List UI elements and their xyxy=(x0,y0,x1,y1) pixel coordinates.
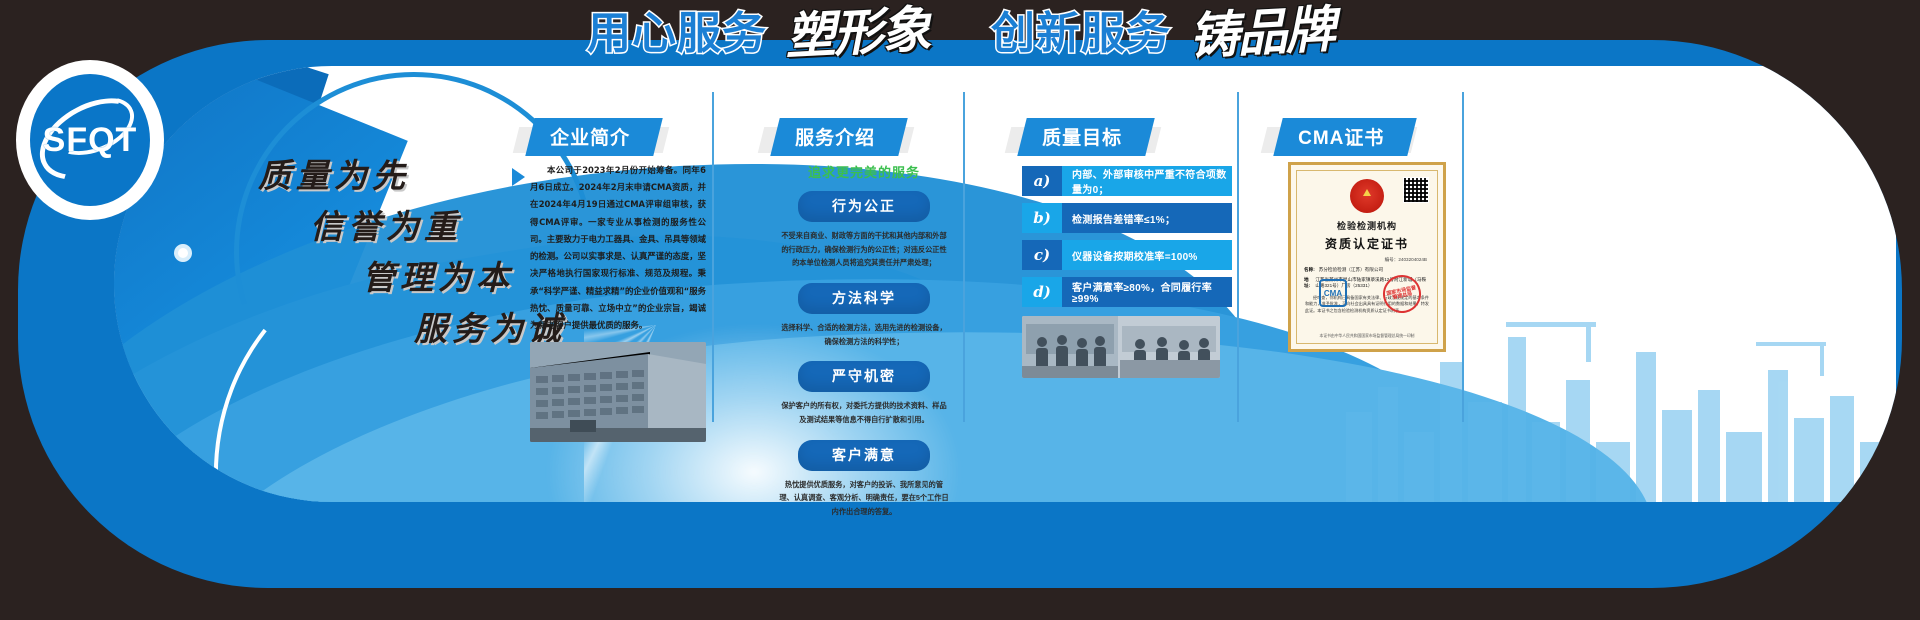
header-title-part2-brush: 铸品牌 xyxy=(1187,0,1335,69)
company-intro-text: 本公司于2023年2月份开始筹备。同年6月6日成立。2024年2月末申请CMA资… xyxy=(530,162,706,334)
culture-wall-stage: 用心服务 塑形象 创新服务 铸品牌 xyxy=(0,0,1920,620)
service-item-title-1[interactable]: 方法科学 xyxy=(798,283,930,314)
cma-header: CMA证书 xyxy=(1278,118,1478,152)
cma-heading-tag: CMA证书 xyxy=(1273,118,1417,156)
goal-value-1: 检测报告差错率≤1%； xyxy=(1062,203,1232,233)
service-intro-heading-text: 服务介绍 xyxy=(795,123,875,150)
certificate-address-label: 地址: xyxy=(1304,277,1311,289)
company-building-photo xyxy=(530,342,706,442)
goal-row: c) 仪器设备按期校准率=100% xyxy=(1022,240,1232,270)
service-item-title-0[interactable]: 行为公正 xyxy=(798,191,930,222)
column-separator-3 xyxy=(1237,92,1239,422)
certificate-name-value: 苏分检验检测（江苏）有限公司 xyxy=(1319,267,1383,273)
service-item-desc-0: 不受来自商业、财政等方面的干扰和其他内部和外部的行政压力，确保检测行为的公正性；… xyxy=(779,229,949,270)
section-cma-certificate: CMA证书 检验检测机构 资质认定证书 编号：2403204024B 名称: 苏… xyxy=(1278,118,1478,352)
quality-goals-heading-text: 质量目标 xyxy=(1042,123,1122,150)
section-company-intro: 企业简介 本公司于2023年2月份开始筹备。同年6月6日成立。2024年2月末申… xyxy=(530,118,720,442)
header-title-part1: 用心服务 xyxy=(587,0,767,61)
header-title: 用心服务 塑形象 创新服务 铸品牌 xyxy=(0,0,1920,60)
service-item-desc-1: 选择科学、合适的检测方法，选用先进的检测设备，确保检测方法的科学性； xyxy=(779,321,949,348)
header-title-part2: 创新服务 xyxy=(991,0,1171,61)
service-subtitle: 追求更完美的服务 xyxy=(775,162,953,181)
cma-seal-icon: CMA xyxy=(1319,279,1347,307)
certificate-number-label: 编号： xyxy=(1385,257,1399,262)
certificate-footer: 本证书由中华人民共和国国家市场监督管理总局统一印制 xyxy=(1297,334,1437,339)
service-intro-header: 服务介绍 xyxy=(775,118,953,152)
laboratory-team-photo xyxy=(1022,316,1220,378)
company-intro-heading-text: 企业简介 xyxy=(550,123,630,150)
cma-certificate-image[interactable]: 检验检测机构 资质认定证书 编号：2403204024B 名称: 苏分检验检测（… xyxy=(1288,162,1446,352)
triangle-arrow-icon xyxy=(512,168,525,186)
lab-photo-graphic xyxy=(1022,316,1220,378)
certificate-inner: 检验检测机构 资质认定证书 编号：2403204024B 名称: 苏分检验检测（… xyxy=(1296,170,1438,344)
service-item-title-3[interactable]: 客户满意 xyxy=(798,440,930,471)
company-intro-body: 本公司于2023年2月份开始筹备。同年6月6日成立。2024年2月末申请CMA资… xyxy=(530,162,706,442)
goal-value-0: 内部、外部审核中严重不符合项数量为0； xyxy=(1062,166,1232,196)
goal-key-0: a) xyxy=(1022,166,1062,196)
certificate-title-line: 资质认定证书 xyxy=(1297,235,1437,252)
section-quality-goals: 质量目标 a) 内部、外部审核中严重不符合项数量为0； b) 检测报告差错率≤1… xyxy=(1022,118,1232,378)
certificate-number-value: 2403204024B xyxy=(1398,257,1427,262)
quality-goals-list: a) 内部、外部审核中严重不符合项数量为0； b) 检测报告差错率≤1%； c)… xyxy=(1022,166,1232,307)
service-item-desc-3: 热忱提供优质服务，对客户的投诉、我所意见的管理、认真调查、客观分析、明确责任，要… xyxy=(779,478,949,519)
quality-goals-heading-tag: 质量目标 xyxy=(1017,118,1154,156)
company-intro-header: 企业简介 xyxy=(530,118,720,152)
goal-key-1: b) xyxy=(1022,203,1062,233)
header-title-part1-brush: 塑形象 xyxy=(783,0,931,69)
cma-heading-text: CMA证书 xyxy=(1298,123,1384,150)
slogan-line-2: 信誉为重 xyxy=(310,201,566,252)
goal-row: a) 内部、外部审核中严重不符合项数量为0； xyxy=(1022,166,1232,196)
column-separator-2 xyxy=(963,92,965,422)
certificate-name-field: 名称: 苏分检验检测（江苏）有限公司 xyxy=(1304,267,1430,273)
certificate-name-label: 名称: xyxy=(1304,267,1315,273)
section-service-intro: 服务介绍 追求更完美的服务 行为公正 不受来自商业、财政等方面的干扰和其他内部和… xyxy=(775,118,953,532)
building-photo-graphic xyxy=(530,342,706,442)
qr-code-icon xyxy=(1403,177,1429,203)
service-item-desc-2: 保护客户的所有权，对委托方提供的技术资料、样品及测试结果等信息不得自行扩散和引用… xyxy=(779,399,949,426)
certificate-org-line: 检验检测机构 xyxy=(1297,219,1437,232)
goal-value-2: 仪器设备按期校准率=100% xyxy=(1062,240,1232,270)
logo-circle: SFQT xyxy=(30,74,150,206)
decor-dot-node xyxy=(174,244,192,262)
goal-value-3: 客户满意率≥80%，合同履行率≥99% xyxy=(1062,277,1232,307)
service-intro-heading-tag: 服务介绍 xyxy=(770,118,907,156)
service-item-title-2[interactable]: 严守机密 xyxy=(798,361,930,392)
goal-row: d) 客户满意率≥80%，合同履行率≥99% xyxy=(1022,277,1232,307)
goal-key-3: d) xyxy=(1022,277,1062,307)
national-emblem-icon xyxy=(1350,179,1384,213)
goal-row: b) 检测报告差错率≤1%； xyxy=(1022,203,1232,233)
company-intro-heading-tag: 企业简介 xyxy=(525,118,662,156)
quality-goals-header: 质量目标 xyxy=(1022,118,1232,152)
certificate-number: 编号：2403204024B xyxy=(1297,257,1427,263)
goal-key-2: c) xyxy=(1022,240,1062,270)
logo-text: SFQT xyxy=(43,121,138,160)
logo-badge: SFQT xyxy=(16,60,164,220)
